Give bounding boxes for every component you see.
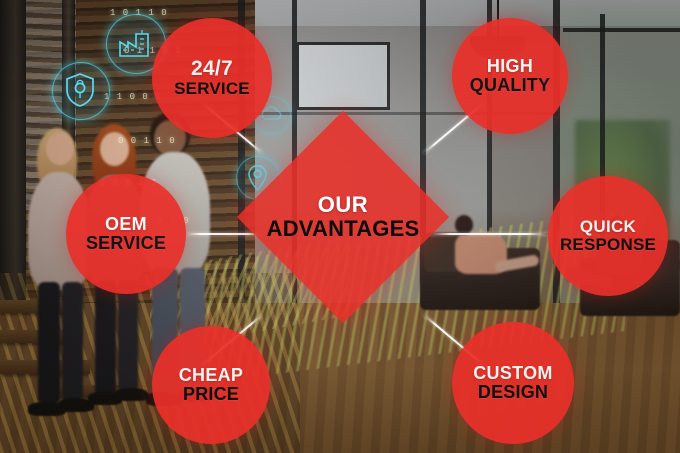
feature-label-line1: CUSTOM [473, 364, 552, 383]
wall-picture-frame [296, 42, 390, 110]
binary-stream-3: 1 1 0 0 1 [104, 92, 162, 103]
seated-person-1-head [455, 215, 473, 235]
feature-bubble-service-247[interactable]: 24/7 SERVICE [152, 18, 272, 138]
person-redhead-leg-1 [95, 280, 116, 398]
feature-label-line2: SERVICE [174, 80, 250, 98]
advantages-infographic-poster: 1 0 1 1 0 0 1 1 0 1 1 1 0 0 1 0 0 1 1 0 … [0, 0, 680, 453]
feature-label-line1: 24/7 [191, 58, 233, 80]
feature-bubble-quick-response[interactable]: QUICK RESPONSE [548, 176, 668, 296]
feature-bubble-high-quality[interactable]: HIGH QUALITY [452, 18, 568, 134]
feature-label-line2: DESIGN [478, 383, 548, 402]
person-redhead-leg-2 [118, 280, 138, 392]
feature-label-line1: QUICK [580, 218, 636, 236]
connector-line-oem-service [186, 233, 262, 235]
feature-label-line1: OEM [105, 215, 147, 234]
feature-label-line2: SERVICE [86, 234, 166, 253]
center-diamond-label: OUR ADVANTAGES [268, 142, 418, 292]
person-blonde-head [46, 132, 74, 165]
feature-bubble-oem-service[interactable]: OEM SERVICE [66, 174, 186, 294]
person-redhead-shoe-2 [115, 388, 149, 401]
center-title-line1: OUR [318, 194, 368, 216]
factory-icon [118, 28, 152, 58]
feature-label-line2: PRICE [183, 385, 239, 404]
feature-label-line2: RESPONSE [560, 236, 656, 254]
shield-lock-icon [64, 72, 96, 108]
connector-line-quick-response [428, 233, 548, 235]
feature-label-line1: HIGH [487, 57, 533, 76]
person-blonde-leg-1 [38, 282, 60, 404]
feature-label-line2: QUALITY [470, 76, 550, 95]
location-pin-icon [247, 164, 268, 191]
person-blonde-leg-2 [62, 282, 83, 400]
feature-bubble-custom-design[interactable]: CUSTOM DESIGN [452, 322, 574, 444]
binary-stream-4: 0 0 1 1 0 [118, 136, 176, 147]
cloud-data-icon [261, 106, 282, 122]
window-frame-right-top [563, 28, 680, 32]
feature-bubble-cheap-price[interactable]: CHEAP PRICE [152, 326, 270, 444]
feature-label-line1: CHEAP [179, 366, 244, 385]
center-title-line2: ADVANTAGES [267, 218, 420, 240]
